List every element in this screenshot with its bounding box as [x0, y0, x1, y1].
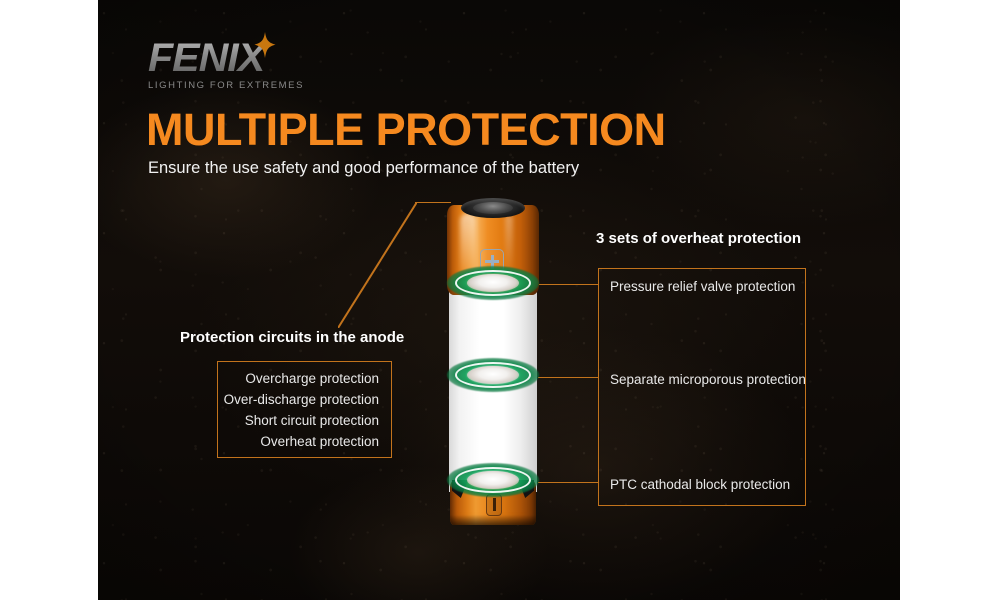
connector-line-pressure-relief [538, 284, 599, 285]
battery-base-shadow [450, 515, 536, 525]
battery-top-cap-icon [461, 198, 525, 218]
overheat-ring-top [447, 266, 539, 300]
list-item: Separate microporous protection [610, 372, 806, 388]
fenix-logo: FENIX LIGHTING FOR EXTREMES [148, 38, 328, 86]
list-item: Over-discharge protection [224, 392, 379, 408]
list-item: Short circuit protection [245, 413, 379, 429]
star-sparkle-icon [254, 32, 276, 58]
connector-line-anode-diagonal [338, 202, 417, 328]
connector-line-microporous [538, 377, 599, 378]
overheat-ring-bottom [447, 463, 539, 497]
connector-line-ptc [538, 482, 599, 483]
left-protection-box: Overcharge protection Over-discharge pro… [217, 361, 392, 458]
list-item: Overheat protection [260, 434, 379, 450]
overheat-ring-middle [447, 358, 539, 392]
right-protection-box: Pressure relief valve protection Separat… [598, 268, 806, 506]
battery-highlight-secondary [505, 215, 513, 273]
connector-line-anode-horizontal [415, 202, 451, 203]
page-title: MULTIPLE PROTECTION [146, 104, 666, 156]
page-subtitle: Ensure the use safety and good performan… [148, 159, 579, 178]
list-item: PTC cathodal block protection [610, 477, 790, 493]
left-section-heading: Protection circuits in the anode [180, 329, 404, 346]
list-item: Pressure relief valve protection [610, 279, 795, 295]
minus-icon [486, 494, 502, 516]
fenix-tagline: LIGHTING FOR EXTREMES [148, 80, 328, 91]
list-item: Overcharge protection [245, 371, 379, 387]
fenix-wordmark: FENIX [148, 38, 333, 78]
battery-illustration [447, 198, 539, 528]
page-root: FENIX LIGHTING FOR EXTREMES MULTIPLE PRO… [0, 0, 1000, 600]
right-section-heading: 3 sets of overheat protection [596, 230, 801, 247]
